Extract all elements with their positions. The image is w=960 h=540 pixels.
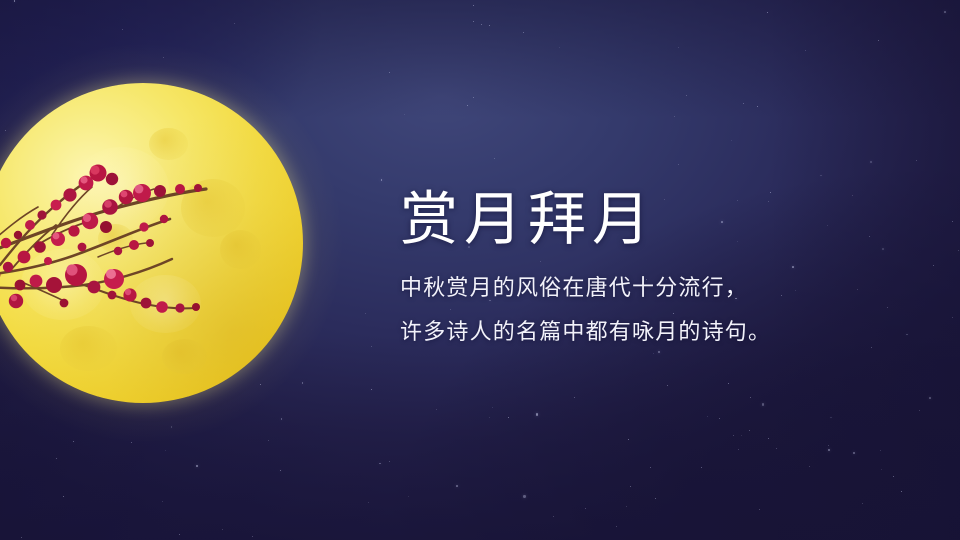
star (381, 179, 383, 181)
star (870, 161, 872, 163)
star (952, 317, 953, 318)
star (741, 435, 742, 436)
star (929, 397, 931, 399)
star (467, 105, 468, 106)
star (553, 516, 554, 517)
star (728, 383, 729, 384)
star (733, 435, 734, 436)
star (906, 334, 908, 336)
star (757, 106, 758, 107)
star (252, 536, 253, 537)
star (436, 409, 437, 410)
star (862, 503, 863, 504)
star (162, 501, 163, 502)
star (196, 465, 198, 467)
star (508, 417, 509, 418)
star (14, 0, 16, 2)
star (280, 470, 282, 472)
star (389, 72, 390, 73)
star (762, 403, 764, 405)
star (731, 140, 732, 141)
star (944, 11, 946, 13)
star (887, 307, 888, 308)
star (805, 50, 806, 51)
star (701, 467, 702, 468)
star (574, 397, 575, 398)
star (776, 448, 777, 449)
star (750, 397, 751, 398)
star (678, 47, 679, 48)
star (523, 495, 525, 497)
star (880, 450, 881, 451)
star (707, 416, 708, 417)
star (371, 346, 372, 347)
star (893, 476, 894, 477)
subtitle-line-1: 中秋赏月的风俗在唐代十分流行， (400, 266, 870, 310)
star (73, 441, 75, 443)
star (268, 440, 269, 441)
star (371, 389, 373, 391)
star (882, 248, 884, 250)
star (473, 5, 475, 7)
star (404, 114, 405, 115)
star (21, 537, 22, 538)
star (165, 450, 166, 451)
star (536, 413, 538, 415)
star (616, 526, 617, 527)
star (743, 103, 744, 104)
star (830, 417, 832, 419)
star (871, 347, 872, 348)
star (768, 438, 769, 439)
star (674, 116, 675, 117)
star (919, 410, 920, 411)
star (678, 164, 679, 165)
star (234, 23, 235, 24)
star (473, 97, 474, 98)
star (379, 463, 381, 465)
star (492, 407, 493, 408)
slide-text-block: 赏月拜月 中秋赏月的风俗在唐代十分流行， 许多诗人的名篇中都有咏月的诗句。 (400, 186, 870, 354)
star (63, 496, 64, 497)
star (122, 29, 123, 30)
star (630, 486, 631, 487)
plum-blossom-branch (0, 135, 244, 335)
star (901, 491, 902, 492)
star (281, 418, 283, 420)
star (559, 47, 560, 48)
star (481, 24, 482, 25)
star (368, 502, 369, 503)
star (719, 418, 720, 419)
star (878, 40, 879, 41)
star (56, 458, 58, 460)
star (686, 95, 687, 96)
star (738, 449, 739, 450)
star (365, 313, 366, 314)
star (473, 21, 474, 22)
branch-stems (0, 175, 206, 308)
star (222, 529, 223, 530)
star (628, 439, 629, 440)
star (759, 509, 760, 510)
star (489, 417, 490, 418)
star (585, 508, 586, 509)
star (749, 430, 750, 431)
star (523, 32, 524, 33)
star (489, 25, 490, 26)
star (767, 12, 768, 13)
star (828, 449, 830, 451)
star (958, 250, 959, 251)
star (820, 175, 822, 177)
star (626, 506, 627, 507)
star (952, 221, 953, 222)
page-title: 赏月拜月 (400, 186, 870, 253)
star (853, 452, 855, 454)
star (828, 445, 829, 446)
presentation-slide: 赏月拜月 中秋赏月的风俗在唐代十分流行， 许多诗人的名篇中都有咏月的诗句。 (0, 0, 960, 540)
star (456, 485, 458, 487)
star (408, 496, 409, 497)
star (494, 158, 495, 159)
star (933, 265, 934, 266)
subtitle-line-2: 许多诗人的名篇中都有咏月的诗句。 (400, 310, 870, 354)
star (916, 160, 917, 161)
star (667, 385, 668, 386)
star (179, 534, 180, 535)
star (655, 498, 656, 499)
star (809, 466, 810, 467)
star (650, 467, 651, 468)
star (881, 469, 882, 470)
star (389, 461, 390, 462)
